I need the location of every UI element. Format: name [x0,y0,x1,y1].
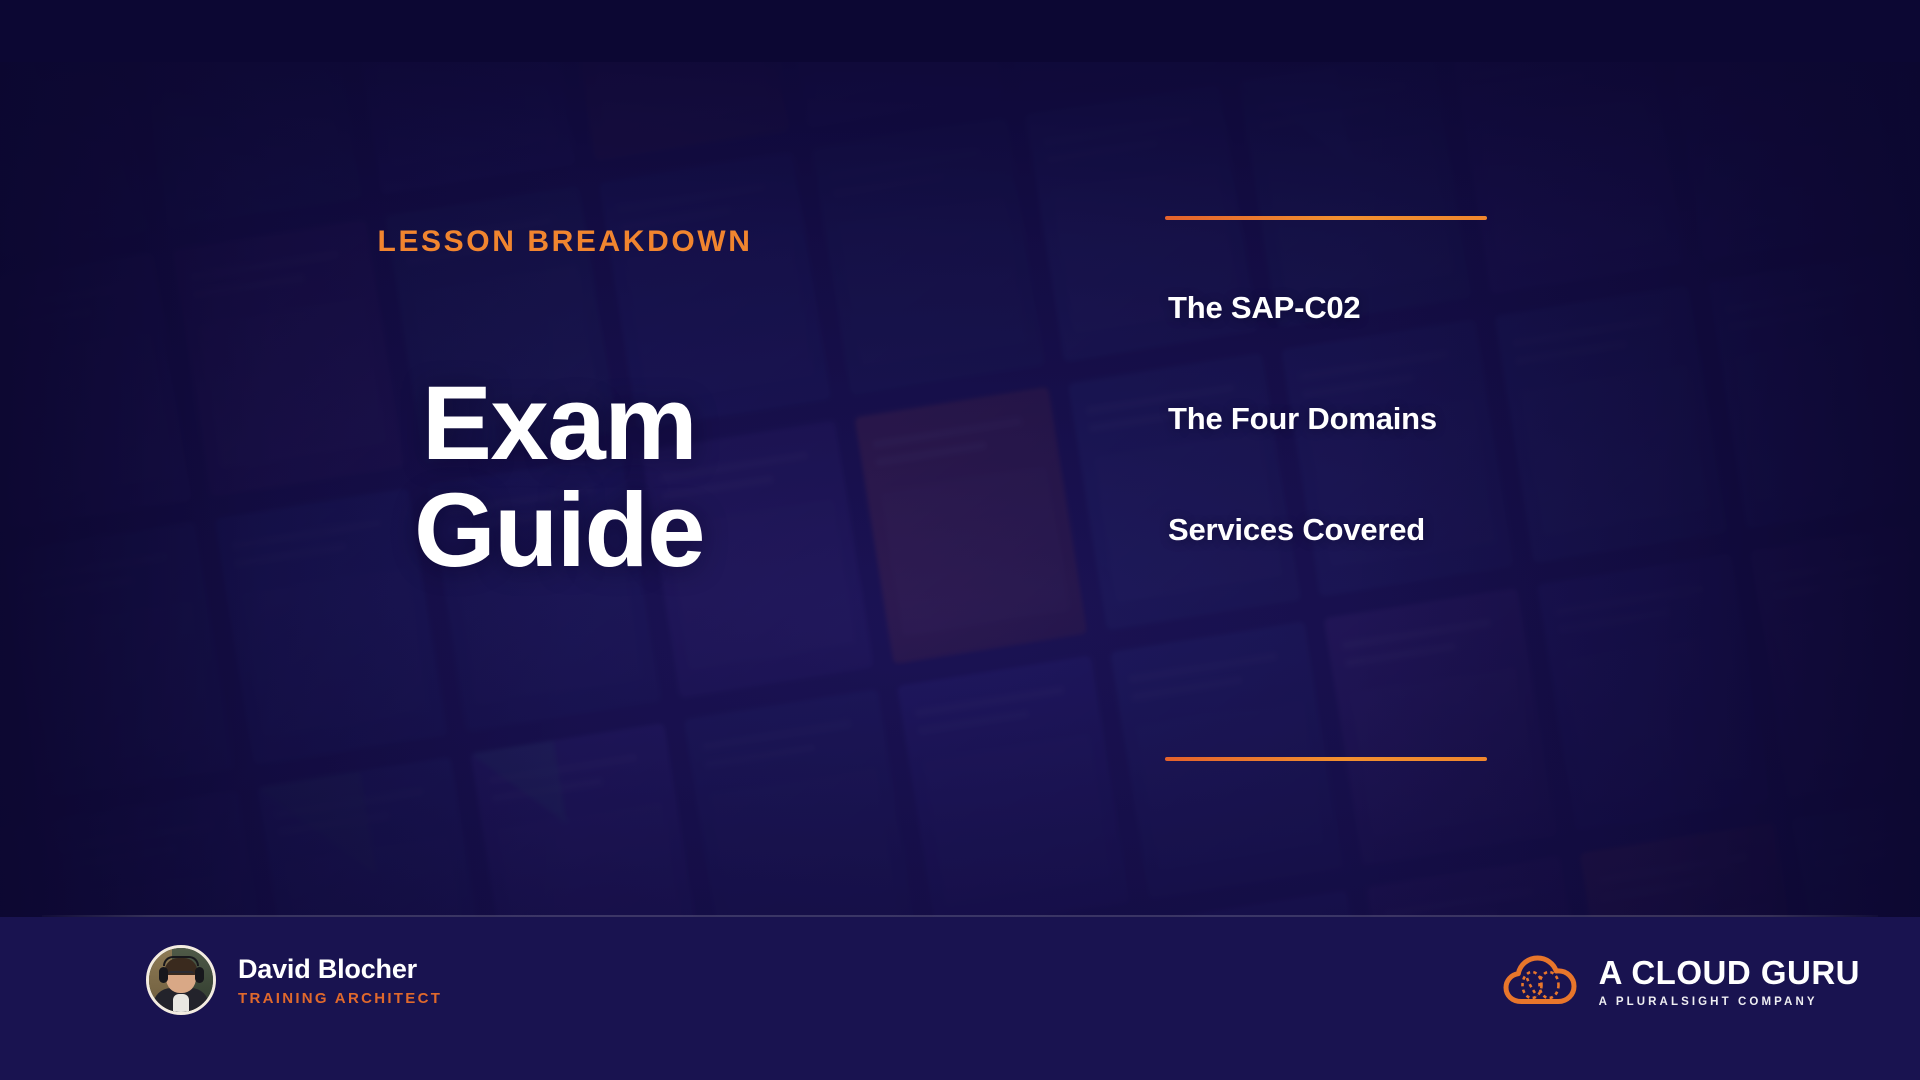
slide-title-line-1: Exam [422,365,696,482]
avatar-glasses [168,971,194,978]
avatar-headphone-band [163,956,199,966]
agenda-item-four-domains: The Four Domains [1168,401,1588,437]
brand-text: A CLOUD GURU A PLURALSIGHT COMPANY [1599,956,1860,1008]
avatar [146,945,216,1015]
presenter-name: David Blocher [238,953,442,987]
avatar-headphone-left [159,967,168,983]
avatar-headphone-right [195,967,204,983]
slide-title: Exam Guide [0,370,1118,584]
agenda-item-services-covered: Services Covered [1168,512,1588,548]
presenter-block: David Blocher TRAINING ARCHITECT [146,945,442,1015]
brand-logo-block: A CLOUD GURU A PLURALSIGHT COMPANY [1503,952,1860,1011]
avatar-shirt [173,994,189,1014]
footer-divider-line [42,915,1878,917]
agenda-divider-bottom [1165,757,1487,761]
presenter-role: TRAINING ARCHITECT [238,990,442,1007]
brand-tagline: A PLURALSIGHT COMPANY [1599,996,1818,1008]
agenda-item-sap-c02: The SAP-C02 [1168,290,1588,326]
lesson-breakdown-eyebrow: LESSON BREAKDOWN [0,225,1130,259]
presentation-slide: LESSON BREAKDOWN Exam Guide The SAP-C02 … [0,0,1920,1080]
brand-name: A CLOUD GURU [1599,956,1860,989]
presenter-text: David Blocher TRAINING ARCHITECT [238,953,442,1008]
agenda-list: The SAP-C02 The Four Domains Services Co… [1168,290,1588,548]
slide-title-line-2: Guide [0,477,1118,584]
cloud-icon [1503,952,1577,1011]
agenda-divider-top [1165,216,1487,220]
